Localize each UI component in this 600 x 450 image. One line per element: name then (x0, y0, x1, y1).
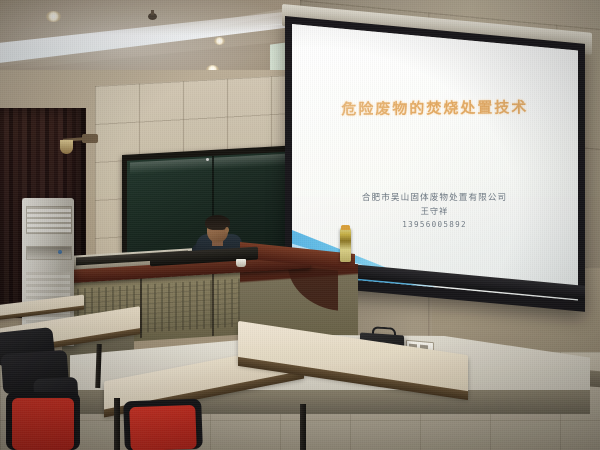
presenter-ear (225, 227, 229, 233)
smoke-detector-stem (151, 10, 154, 15)
red-chair (12, 398, 74, 450)
podium-panel-seam (140, 276, 142, 338)
wall-lamp-icon (60, 140, 73, 154)
slide-company-name: 合肥市吴山固体废物处置有限公司 (303, 192, 566, 205)
bottle-cap (341, 225, 350, 230)
recessed-downlight (214, 37, 225, 45)
chalkboard-fixture-icon (206, 158, 209, 161)
paper-cup (236, 259, 246, 267)
beverage-bottle (340, 228, 351, 262)
desk-leg (300, 404, 306, 450)
red-chair (129, 405, 196, 450)
slide-presenter-name: 王守祥 (303, 205, 566, 218)
desk-leg (114, 398, 120, 450)
wall-speaker-icon (82, 134, 98, 143)
photo-scene: 危险废物的焚烧处置技术 合肥市吴山固体废物处置有限公司 王守祥 13956005… (0, 0, 600, 450)
podium-panel-seam (212, 272, 214, 336)
recessed-downlight (46, 11, 61, 22)
slide-title: 危险废物的焚烧处置技术 (309, 96, 561, 120)
